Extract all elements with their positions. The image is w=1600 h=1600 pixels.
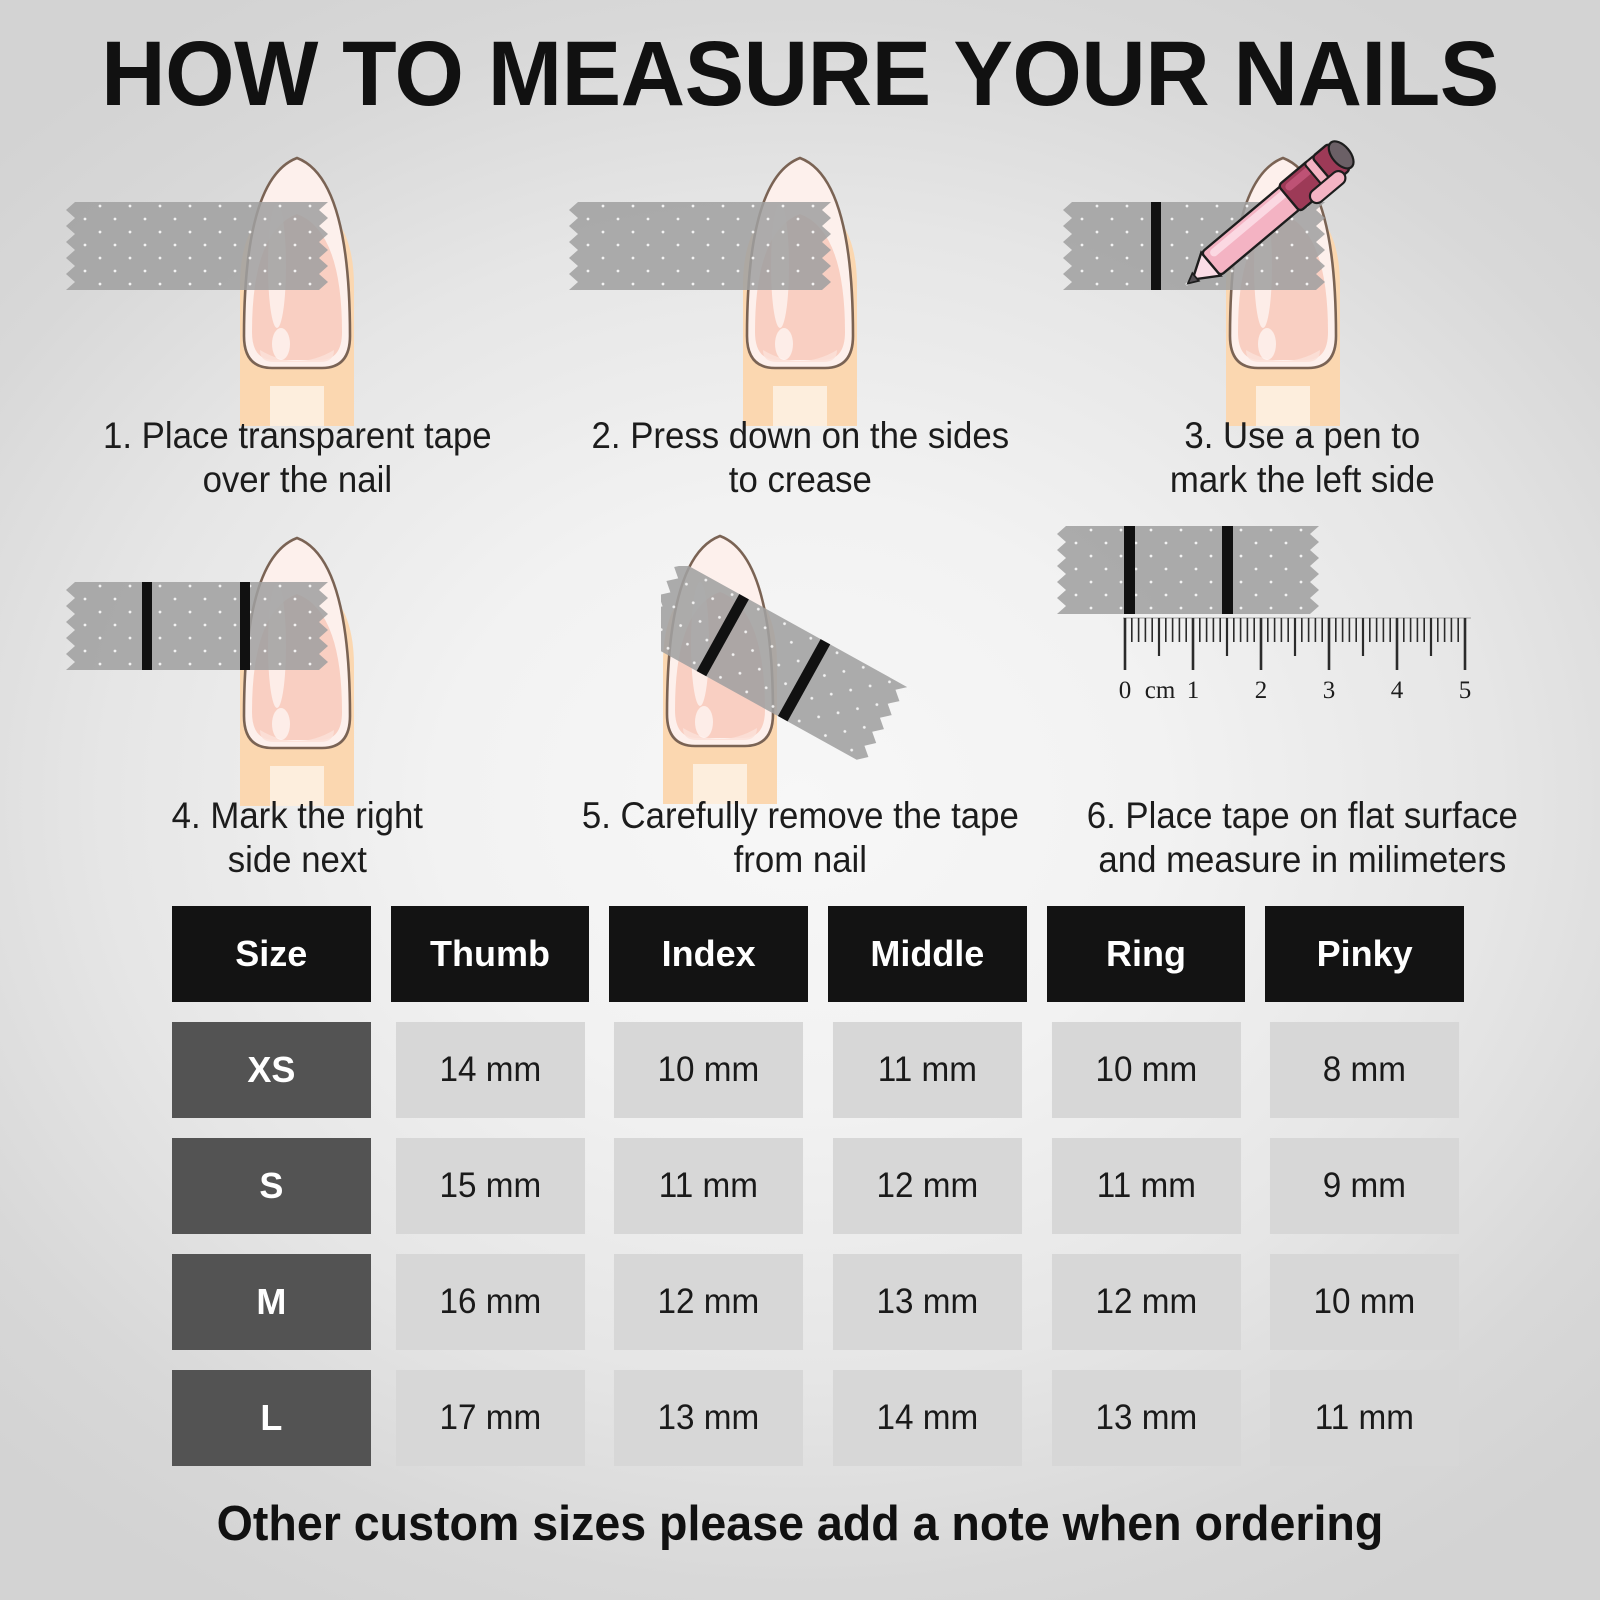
tape-strip — [66, 582, 328, 678]
ruler-label-cm: cm — [1145, 677, 1176, 704]
step-5-line2: from nail — [733, 839, 866, 880]
step-4-line2: side next — [228, 839, 367, 880]
step-5-illustration — [549, 508, 1052, 790]
step-1-line2: over the nail — [203, 459, 392, 500]
step-5: 5. Carefully remove the tape from nail — [549, 508, 1052, 888]
ruler-label-5: 5 — [1459, 677, 1472, 704]
table-row-size-l: L — [172, 1370, 371, 1466]
step-6-line2: and measure in milimeters — [1099, 839, 1507, 880]
step-6-caption: 6. Place tape on flat surface and measur… — [1066, 794, 1538, 881]
table-cell-m-pinky: 10 mm — [1270, 1254, 1459, 1350]
step-2-illustration — [549, 128, 1052, 410]
size-chart-table: Size Thumb Index Middle Ring Pinky XS 14… — [172, 906, 1464, 1466]
ruler-label-1: 1 — [1187, 677, 1200, 704]
ruler-label-4: 4 — [1391, 677, 1404, 704]
table-header-thumb: Thumb — [391, 906, 590, 1002]
step-1-illustration — [46, 128, 549, 410]
table-header-middle: Middle — [828, 906, 1027, 1002]
footer-note: Other custom sizes please add a note whe… — [40, 1496, 1560, 1552]
ruler-label-0: 0 — [1119, 677, 1132, 704]
table-cell-xs-thumb: 14 mm — [396, 1022, 585, 1118]
table-cell-m-middle: 13 mm — [833, 1254, 1022, 1350]
left-mark — [142, 582, 152, 670]
table-cell-l-pinky: 11 mm — [1270, 1370, 1459, 1466]
table-cell-l-thumb: 17 mm — [396, 1370, 585, 1466]
table-cell-l-middle: 14 mm — [833, 1370, 1022, 1466]
tape-strip — [569, 202, 831, 298]
step-1-line1: 1. Place transparent tape — [103, 415, 492, 456]
tape-strip-measured — [1057, 526, 1319, 622]
step-5-line1: 5. Carefully remove the tape — [582, 795, 1019, 836]
step-1: 1. Place transparent tape over the nail — [46, 128, 549, 508]
ruler-label-3: 3 — [1323, 677, 1336, 704]
step-2-line2: to crease — [728, 459, 871, 500]
step-4-illustration — [46, 508, 549, 790]
table-cell-l-index: 13 mm — [614, 1370, 803, 1466]
table-header-size: Size — [172, 906, 371, 1002]
step-4-line1: 4. Mark the right — [172, 795, 423, 836]
table-cell-m-ring: 12 mm — [1052, 1254, 1241, 1350]
table-cell-xs-ring: 10 mm — [1052, 1022, 1241, 1118]
step-3-line1: 3. Use a pen to — [1185, 415, 1421, 456]
ruler: 0 cm 1 2 3 4 5 — [1117, 616, 1477, 746]
ruler-label-2: 2 — [1255, 677, 1268, 704]
right-mark — [240, 582, 250, 670]
table-cell-s-index: 11 mm — [614, 1138, 803, 1234]
step-1-caption: 1. Place transparent tape over the nail — [61, 414, 533, 501]
table-row-size-m: M — [172, 1254, 371, 1350]
table-header-ring: Ring — [1047, 906, 1246, 1002]
step-2-caption: 2. Press down on the sides to crease — [564, 414, 1037, 501]
table-cell-m-index: 12 mm — [614, 1254, 803, 1350]
table-cell-s-thumb: 15 mm — [396, 1138, 585, 1234]
tape-strip — [66, 202, 328, 298]
ruler-ticks — [1125, 618, 1465, 670]
step-5-caption: 5. Carefully remove the tape from nail — [564, 794, 1037, 881]
left-mark — [1124, 526, 1135, 614]
table-header-index: Index — [609, 906, 808, 1002]
table-cell-s-ring: 11 mm — [1052, 1138, 1241, 1234]
step-6: 0 cm 1 2 3 4 5 6. Place tape on flat sur… — [1051, 508, 1554, 888]
right-mark — [1222, 526, 1233, 614]
steps-grid: 1. Place transparent tape over the nail — [46, 128, 1554, 888]
tape-strip-peeled — [661, 566, 991, 796]
table-row-size-s: S — [172, 1138, 371, 1234]
table-row-size-xs: XS — [172, 1022, 371, 1118]
table-cell-xs-middle: 11 mm — [833, 1022, 1022, 1118]
table-cell-s-pinky: 9 mm — [1270, 1138, 1459, 1234]
left-mark — [1151, 202, 1161, 290]
table-cell-m-thumb: 16 mm — [396, 1254, 585, 1350]
table-header-pinky: Pinky — [1265, 906, 1464, 1002]
step-4: 4. Mark the right side next — [46, 508, 549, 888]
step-3-caption: 3. Use a pen to mark the left side — [1066, 414, 1538, 501]
step-6-line1: 6. Place tape on flat surface — [1087, 795, 1518, 836]
table-cell-l-ring: 13 mm — [1052, 1370, 1241, 1466]
step-3: 3. Use a pen to mark the left side — [1051, 128, 1554, 508]
step-4-caption: 4. Mark the right side next — [61, 794, 533, 881]
table-cell-xs-pinky: 8 mm — [1270, 1022, 1459, 1118]
step-2: 2. Press down on the sides to crease — [549, 128, 1052, 508]
page-title: HOW TO MEASURE YOUR NAILS — [24, 26, 1576, 123]
pen-icon — [1169, 122, 1369, 312]
table-cell-s-middle: 12 mm — [833, 1138, 1022, 1234]
step-2-line1: 2. Press down on the sides — [591, 415, 1009, 456]
step-3-line2: mark the left side — [1170, 459, 1435, 500]
step-6-illustration: 0 cm 1 2 3 4 5 — [1051, 508, 1554, 790]
step-3-illustration — [1051, 128, 1554, 410]
table-cell-xs-index: 10 mm — [614, 1022, 803, 1118]
